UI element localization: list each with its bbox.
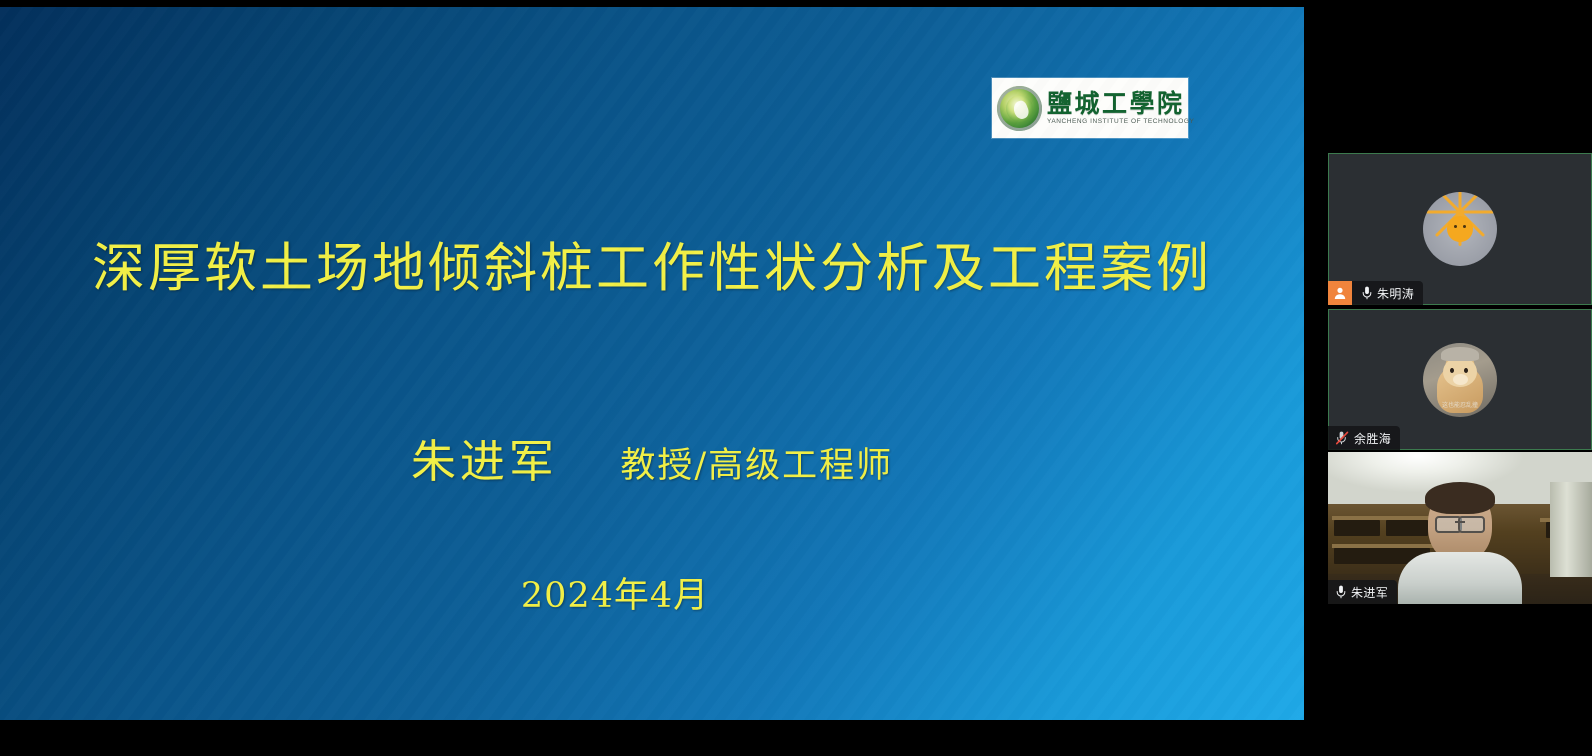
slide-title: 深厚软土场地倾斜桩工作性状分析及工程案例: [0, 239, 1304, 300]
university-name-en: YANCHENG INSTITUTE OF TECHNOLOGY: [1047, 119, 1194, 126]
microphone-muted-icon[interactable]: [1336, 431, 1349, 445]
participant-name-1: 余胜海: [1354, 430, 1391, 447]
university-logo-text: 鹽城工學院 YANCHENG INSTITUTE OF TECHNOLOGY: [1047, 91, 1194, 126]
sun-avatar: [1423, 192, 1497, 266]
presenter-row: 朱进军 教授/高级工程师: [0, 425, 1304, 490]
participant-tile-2[interactable]: 朱进军: [1328, 452, 1592, 604]
participant-strip: 朱明涛 这也能忍乱撞 余胜海: [1304, 0, 1592, 756]
slide-date: 2024年4月: [0, 567, 1230, 618]
host-person-icon: [1328, 281, 1352, 305]
cat-avatar: 这也能忍乱撞: [1423, 343, 1497, 417]
participant-tile-1[interactable]: 这也能忍乱撞 余胜海: [1328, 309, 1592, 450]
university-name-cn: 鹽城工學院: [1047, 91, 1194, 116]
cat-avatar-caption: 这也能忍乱撞: [1423, 400, 1497, 409]
university-crest-icon: [997, 86, 1042, 131]
presentation-slide: 鹽城工學院 YANCHENG INSTITUTE OF TECHNOLOGY 深…: [0, 7, 1304, 720]
university-logo: 鹽城工學院 YANCHENG INSTITUTE OF TECHNOLOGY: [992, 78, 1188, 138]
presenter-title: 教授/高级工程师: [620, 446, 893, 486]
conference-window: 鹽城工學院 YANCHENG INSTITUTE OF TECHNOLOGY 深…: [0, 0, 1592, 756]
presenter-name: 朱进军: [411, 435, 558, 488]
microphone-icon[interactable]: [1362, 286, 1372, 300]
participant-tile-0[interactable]: 朱明涛: [1328, 153, 1592, 305]
participant-name-2: 朱进军: [1351, 584, 1388, 601]
participant-namebar-2: 朱进军: [1328, 580, 1397, 604]
participant-name-0: 朱明涛: [1377, 285, 1414, 302]
participant-namebar-1: 余胜海: [1328, 426, 1400, 450]
participant-namebar-0: 朱明涛: [1328, 281, 1423, 305]
microphone-icon[interactable]: [1336, 585, 1346, 599]
shared-screen-region[interactable]: 鹽城工學院 YANCHENG INSTITUTE OF TECHNOLOGY 深…: [0, 7, 1304, 720]
